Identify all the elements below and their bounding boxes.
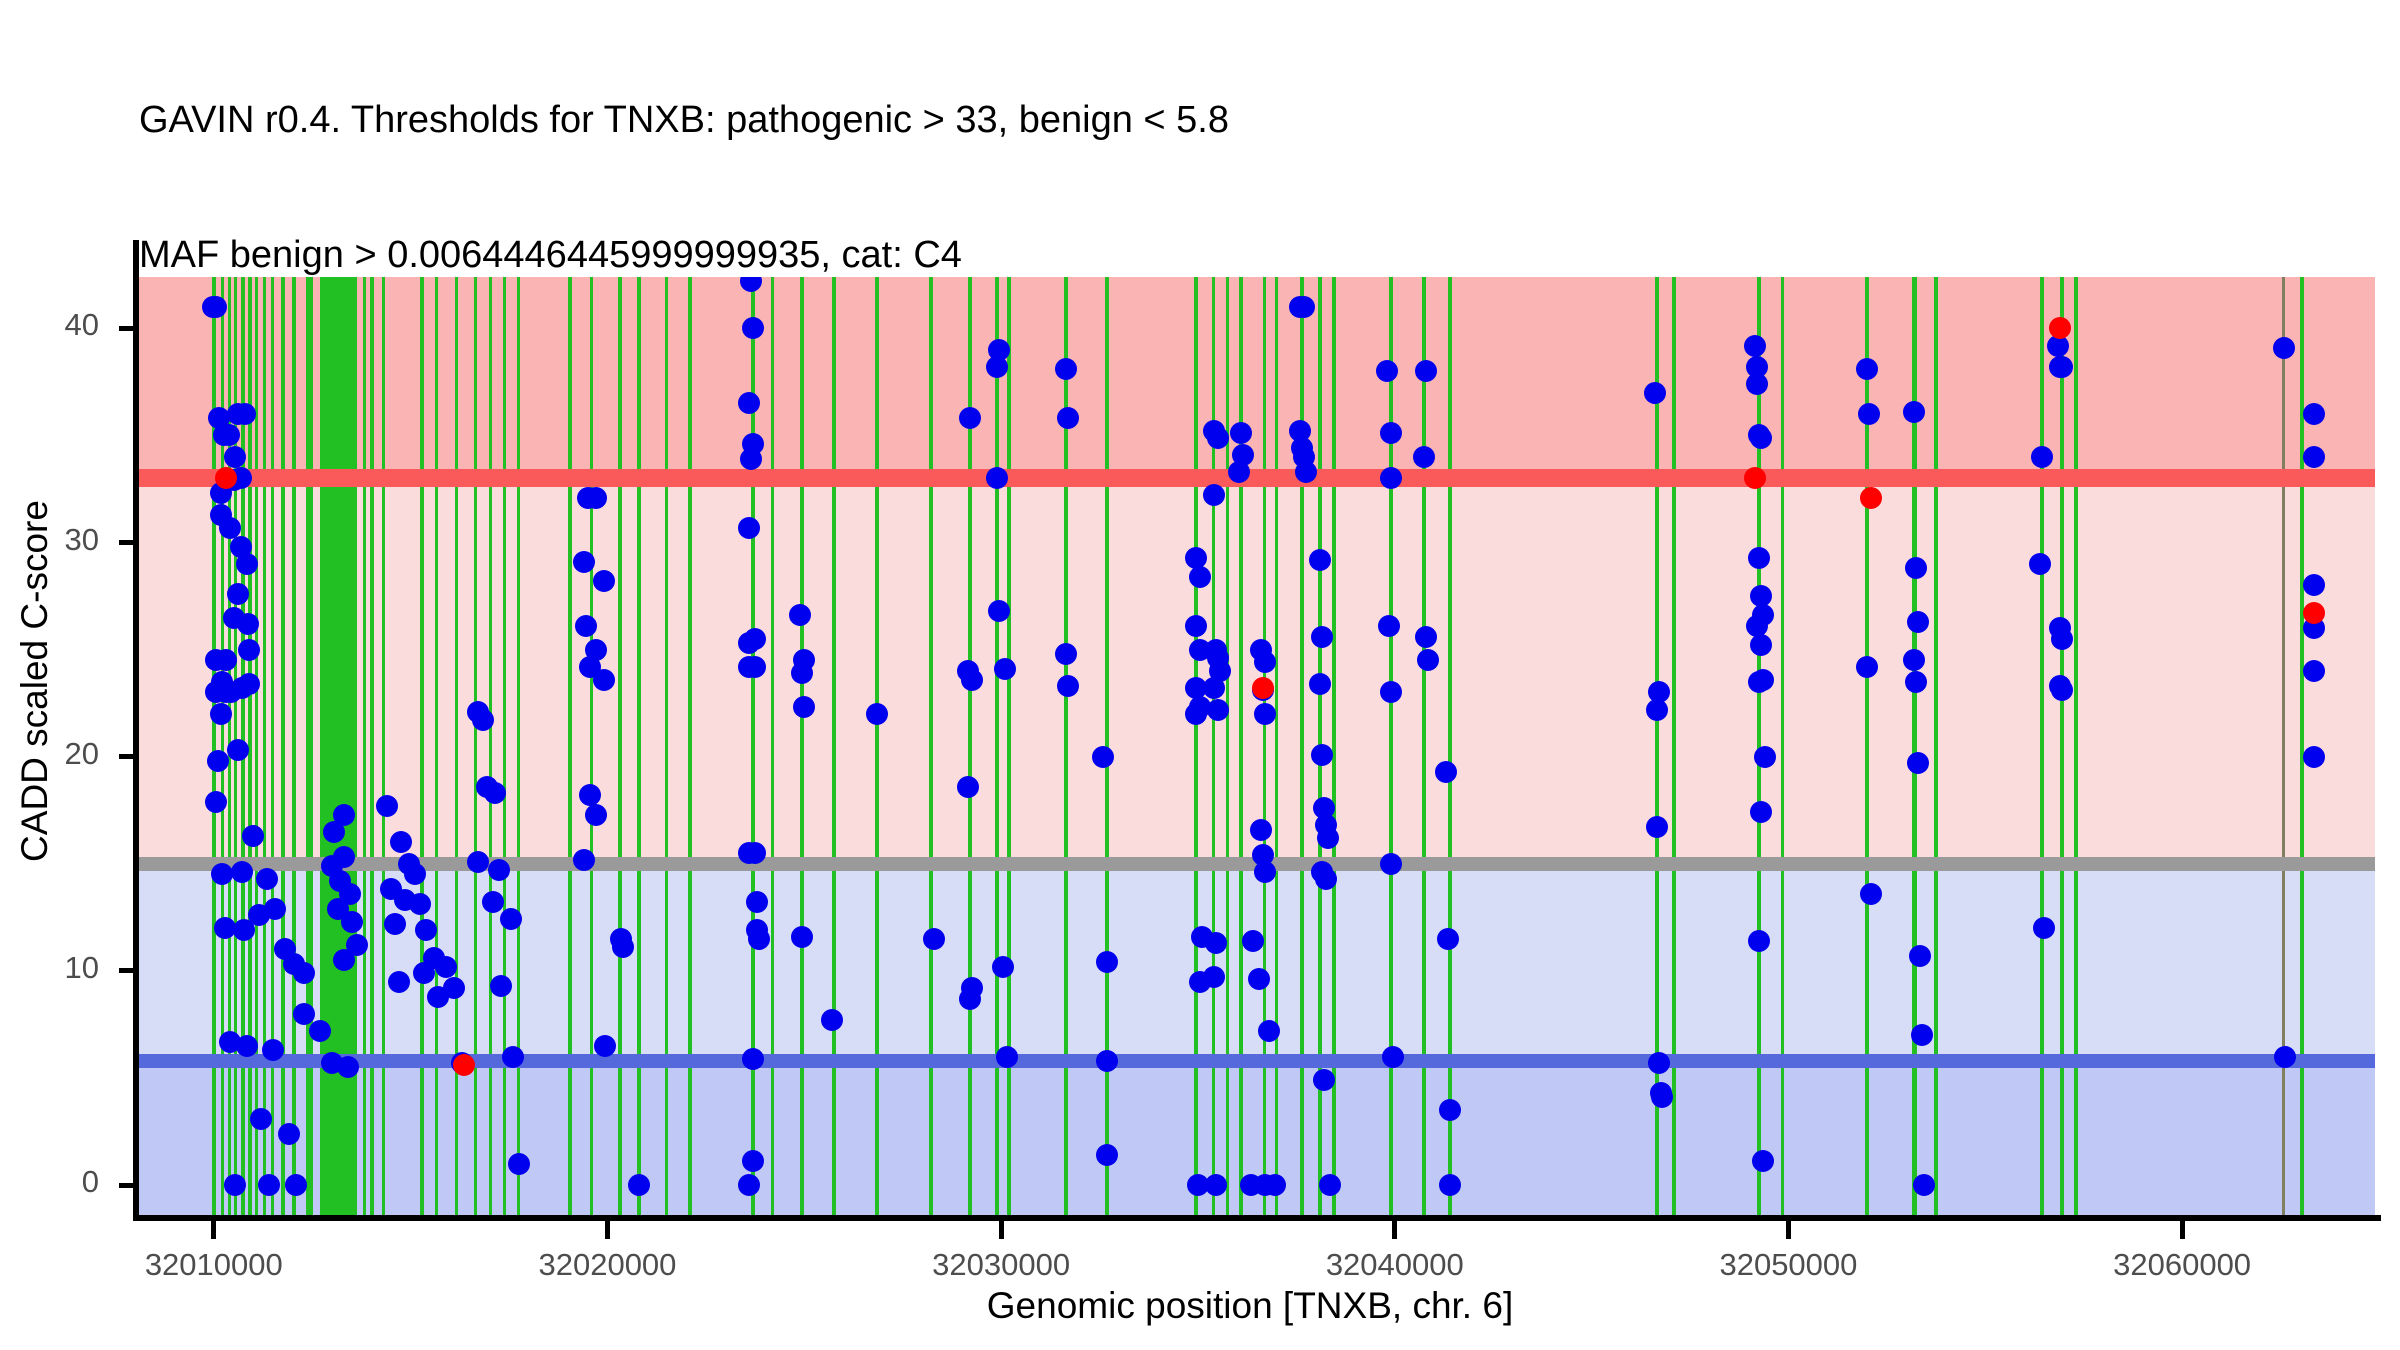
gnomad-variant-point [333,949,355,971]
x-axis-line [133,1215,2381,1221]
gnomad-variant-point [2273,337,2295,359]
gnomad-variant-point [258,1174,280,1196]
gnomad-variant-point [341,911,363,933]
x-tick [1392,1221,1397,1239]
exon-bar [271,277,275,1215]
exon-bar [2040,277,2044,1215]
x-tick-label: 32020000 [477,1247,737,1283]
gnomad-variant-point [1380,853,1402,875]
gnomad-variant-point [1203,484,1225,506]
gnomad-variant-point [957,776,979,798]
chart-root: GAVIN r0.4. Thresholds for TNXB: pathoge… [0,0,2400,1350]
gnomad-variant-point [236,553,258,575]
gnomad-variant-point [748,928,770,950]
clinvar-pathogenic-point [453,1054,475,1076]
gnomad-variant-point [238,673,260,695]
exon-bar [255,277,258,1215]
exon-bar [474,277,477,1215]
gnomad-variant-point [390,831,412,853]
gnomad-variant-point [309,1020,331,1042]
gnomad-variant-point [467,851,489,873]
gnomad-variant-point [1646,816,1668,838]
gnomad-variant-point [585,804,607,826]
exon-bar [800,277,804,1215]
gnomad-variant-point [2303,660,2325,682]
gnomad-variant-point [242,825,264,847]
exon-bar [590,277,594,1215]
gnomad-variant-point [2303,746,2325,768]
gnomad-variant-point [1055,358,1077,380]
gnomad-variant-point [1750,427,1772,449]
exon-bar [292,277,297,1215]
gnomad-variant-point [1315,868,1337,890]
exon-bar [1448,277,1452,1215]
gnomad-variant-point [1309,549,1331,571]
gnomad-variant-point [866,703,888,725]
gnomad-variant-point [1744,335,1766,357]
y-tick [119,326,137,331]
gnomad-variant-point [1189,566,1211,588]
x-tick-label: 32030000 [871,1247,1131,1283]
gnomad-variant-point [791,926,813,948]
x-tick [1786,1221,1791,1239]
exon-bar [568,277,572,1215]
gnomad-variant-point [443,977,465,999]
clinvar-pathogenic-point [1860,487,1882,509]
gnomad-variant-point [1856,656,1878,678]
gnomad-variant-point [1264,1174,1286,1196]
gnomad-variant-point [738,517,760,539]
gnomad-variant-point [996,1046,1018,1068]
exon-bar [1226,277,1230,1215]
x-tick [211,1221,216,1239]
gnomad-variant-point [740,448,762,470]
exon-bar [420,277,423,1215]
gnomad-variant-point [1748,547,1770,569]
gnomad-variant-point [575,615,597,637]
exon-bar [1655,277,1660,1215]
exon-bar [1275,277,1279,1215]
exon-bar [517,277,521,1215]
exon-bar [637,277,641,1215]
gnomad-variant-point [573,849,595,871]
gnomad-variant-point [1380,467,1402,489]
gnomad-variant-point [744,628,766,650]
gnomad-variant-point [211,863,233,885]
gnomad-variant-point [250,1108,272,1130]
gnomad-variant-point [2274,1046,2296,1068]
gnomad-variant-point [234,403,256,425]
x-tick [2180,1221,2185,1239]
exon-bar [2074,277,2078,1215]
gnomad-variant-point [1380,422,1402,444]
exon-bar [2060,277,2064,1215]
title-line-maf: MAF benign > 0.0064446445999999935, cat:… [139,233,2239,278]
gnomad-variant-point [1295,461,1317,483]
gnomad-variant-point [1207,427,1229,449]
gnomad-variant-point [1311,744,1333,766]
gnomad-variant-point [238,639,260,661]
gnomad-variant-point [1435,761,1457,783]
gnomad-variant-point [1185,703,1207,725]
exon-bar [435,277,438,1215]
gnomad-variant-point [1250,819,1272,841]
x-tick-label: 32060000 [2052,1247,2312,1283]
gnomad-variant-point [1185,615,1207,637]
exon-bar [1934,277,1938,1215]
gnomad-variant-point [1203,966,1225,988]
gnomad-variant-point [1378,615,1400,637]
gnomad-variant-point [1415,626,1437,648]
x-tick-label: 32050000 [1658,1247,1918,1283]
gnomad-variant-point [1439,1174,1461,1196]
gnomad-variant-point [1185,547,1207,569]
plot-canvas [139,277,2375,1215]
gnomad-variant-point [1413,446,1435,468]
gnomad-variant-point [923,928,945,950]
x-axis-title: Genomic position [TNXB, chr. 6] [700,1285,1800,1327]
gnomad-variant-point [1228,461,1250,483]
exon-bar [618,277,622,1215]
gnomad-variant-point [1439,1099,1461,1121]
gnomad-variant-point [1254,703,1276,725]
exon-bar [363,277,366,1215]
exon-bar [1239,277,1243,1215]
gnomad-variant-point [205,791,227,813]
exon-bar [503,277,506,1215]
gnomad-variant-point [388,971,410,993]
gnomad-variant-point [1317,827,1339,849]
gnomad-variant-point [585,487,607,509]
gnomad-variant-point [207,750,229,772]
exon-bar [489,277,492,1215]
gnomad-variant-point [744,842,766,864]
exon-bar [832,277,836,1215]
gnomad-variant-point [502,1046,524,1068]
gnomad-variant-point [992,956,1014,978]
gnomad-variant-point [1242,930,1264,952]
gnomad-variant-point [1909,945,1931,967]
gnomad-variant-point [593,669,615,691]
gnomad-variant-point [1644,382,1666,404]
gnomad-variant-point [988,339,1010,361]
gnomad-variant-point [959,407,981,429]
exon-bar [771,277,775,1215]
gnomad-variant-point [1258,1020,1280,1042]
gnomad-variant-point [821,1009,843,1031]
exon-bar [382,277,385,1215]
gnomad-variant-point [1648,1052,1670,1074]
plot-area [139,277,2375,1215]
y-axis-title: CADD scaled C-score [14,301,56,1061]
exon-bar [751,277,755,1215]
exon-bar [1389,277,1393,1215]
gnomad-variant-point [293,1003,315,1025]
y-tick [119,754,137,759]
exon-bar [1300,277,1304,1215]
gnomad-variant-point [1907,611,1929,633]
exon-bar [1212,277,1216,1215]
y-tick [119,1183,137,1188]
gnomad-variant-point [1746,373,1768,395]
y-axis-line [133,240,139,1221]
gnomad-variant-point [1313,1069,1335,1091]
gnomad-variant-point [1860,883,1882,905]
gnomad-variant-point [337,1056,359,1078]
gnomad-variant-point [262,1039,284,1061]
exon-bar [1007,277,1011,1215]
exon-bar [665,277,669,1215]
exon-bar [281,277,285,1215]
clinvar-pathogenic-point [1252,677,1274,699]
gnomad-variant-point [1207,699,1229,721]
exon-bar [875,277,879,1215]
gnomad-variant-point [2051,628,2073,650]
gnomad-variant-point [959,988,981,1010]
gnomad-variant-point [1748,930,1770,952]
exon-bar [1781,277,1785,1215]
exon-bar [1422,277,1426,1215]
gnomad-variant-point [579,784,601,806]
exon-bar [929,277,933,1215]
gnomad-variant-point [1309,673,1331,695]
y-tick-label: 0 [0,1164,99,1200]
gnomad-variant-point [278,1123,300,1145]
gnomad-variant-point [994,658,1016,680]
gnomad-variant-point [490,975,512,997]
gnomad-variant-point [1905,671,1927,693]
y-tick [119,968,137,973]
exon-bar [1672,277,1676,1215]
title-line-thresholds: GAVIN r0.4. Thresholds for TNXB: pathoge… [139,98,2239,143]
exon-bar [1263,277,1267,1215]
gnomad-variant-point [961,669,983,691]
gnomad-variant-point [2303,446,2325,468]
gnomad-variant-point [1205,932,1227,954]
gnomad-variant-point [210,703,232,725]
gnomad-variant-point [1382,1046,1404,1068]
x-tick [605,1221,610,1239]
gnomad-variant-point [384,913,406,935]
exon-bar [370,277,374,1215]
gnomad-variant-point [1205,1174,1227,1196]
gnomad-variant-point [742,1048,764,1070]
gnomad-variant-point [256,868,278,890]
exon-bar [1194,277,1198,1215]
fallback-threshold-vline [2282,277,2285,1215]
gnomad-variant-point [323,821,345,843]
gnomad-variant-point [1754,746,1776,768]
gnomad-variant-point [2303,403,2325,425]
gnomad-variant-point [404,863,426,885]
gnomad-variant-point [264,898,286,920]
gnomad-variant-point [1437,928,1459,950]
exon-bar [688,277,692,1215]
x-tick [999,1221,1004,1239]
gnomad-variant-point [227,583,249,605]
gnomad-variant-point [1203,677,1225,699]
y-tick [119,540,137,545]
x-tick-label: 32010000 [84,1247,344,1283]
exon-bar [306,277,313,1215]
gnomad-variant-point [376,795,398,817]
pathogenic-threshold-line [139,469,2375,487]
gnomad-variant-point [573,551,595,573]
gnomad-variant-point [435,956,457,978]
exon-bar [995,277,999,1215]
gnomad-variant-point [1311,626,1333,648]
gnomad-variant-point [236,1035,258,1057]
gnomad-variant-point [508,1153,530,1175]
gnomad-variant-point [1055,643,1077,665]
gnomad-variant-point [628,1174,650,1196]
x-tick-label: 32040000 [1265,1247,1525,1283]
gnomad-variant-point [1057,675,1079,697]
gnomad-variant-point [1319,1174,1341,1196]
gnomad-variant-point [1752,669,1774,691]
exon-bar [263,277,266,1215]
gnomad-variant-point [593,570,615,592]
gnomad-variant-point [1376,360,1398,382]
gnomad-variant-point [224,446,246,468]
gnomad-variant-point [744,656,766,678]
gnomad-variant-point [205,296,227,318]
gnomad-variant-point [2051,356,2073,378]
gnomad-variant-point [1648,681,1670,703]
